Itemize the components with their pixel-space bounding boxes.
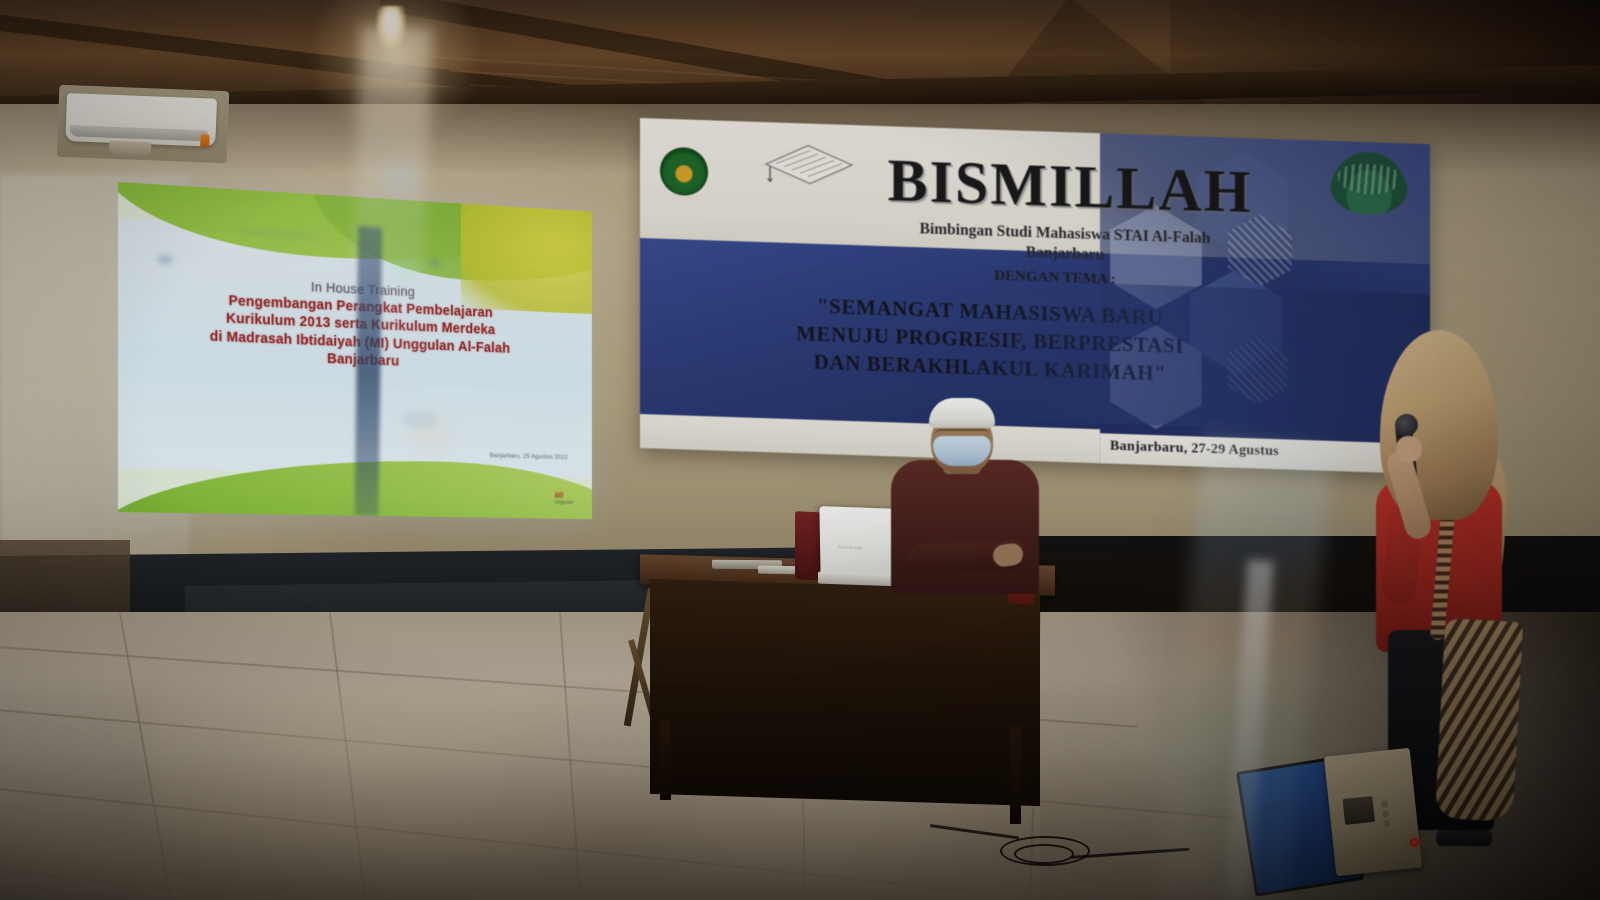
- shoulder-bag: [1435, 618, 1523, 822]
- desk-leg-right: [1010, 726, 1021, 824]
- beige-equipment-box: [1324, 748, 1422, 876]
- presenter-desk-front: [650, 579, 1040, 806]
- ac-status-light: [200, 134, 209, 147]
- speaker-shoe: [1436, 830, 1492, 846]
- seminar-room-photo: In House Training Pengembangan Perangkat…: [0, 0, 1600, 900]
- laptop-brand-label: Notebook: [838, 544, 863, 551]
- seated-presenter: [885, 392, 1045, 592]
- slide-logo: MI Unggulan: [555, 490, 574, 505]
- desk-leg-left: [660, 720, 671, 800]
- coiled-cable-inner: [1014, 844, 1074, 864]
- equipment-power-led: [1410, 838, 1419, 847]
- face-mask: [933, 436, 991, 466]
- kopiah-cap: [929, 398, 995, 428]
- air-conditioner: [57, 85, 230, 163]
